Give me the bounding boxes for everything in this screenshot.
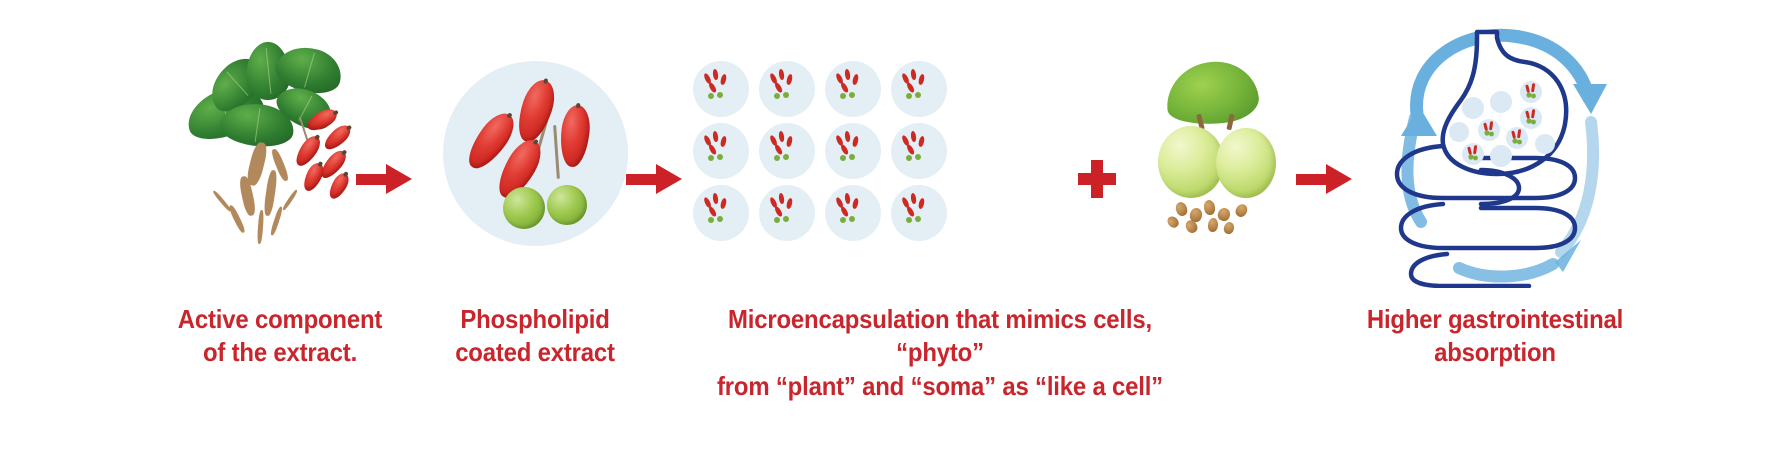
plant-root-hair [282, 189, 299, 211]
microcapsule [891, 185, 947, 241]
barberry-plant-illustration [180, 38, 380, 268]
caption-gi-absorption: Higher gastrointestinal absorption [1343, 303, 1647, 370]
microcapsule [693, 61, 749, 117]
grape-illustration [1128, 56, 1293, 251]
microcapsule [891, 123, 947, 179]
microcapsule [825, 61, 881, 117]
arrow-right-1 [356, 164, 412, 194]
grape-leaf [1163, 57, 1261, 128]
caption-active-component: Active component of the extract. [160, 303, 399, 370]
caption-microencapsulation: Microencapsulation that mimics cells, “p… [682, 303, 1197, 403]
microcapsule [825, 185, 881, 241]
green-berry [503, 187, 545, 229]
microcapsule [891, 61, 947, 117]
step-gi-absorption-visual [1380, 18, 1640, 288]
arrow-right-2 [626, 164, 682, 194]
microcapsule [759, 123, 815, 179]
infographic-root: Active component of the extract. Phospho… [0, 0, 1792, 466]
grape-berry [1158, 126, 1224, 198]
grape-seed [1222, 220, 1235, 234]
grape-seed [1203, 199, 1216, 215]
step-grape-visual [1120, 18, 1300, 288]
step-microencapsulation-visual [690, 18, 955, 288]
step-active-component-visual [170, 18, 390, 288]
phospholipid-circle [443, 61, 628, 246]
microcapsule [825, 123, 881, 179]
grape-seed [1216, 206, 1232, 223]
microcapsule [759, 61, 815, 117]
grape-seed [1165, 214, 1181, 230]
caption-phospholipid: Phospholipid coated extract [429, 303, 641, 370]
red-berry [511, 75, 559, 145]
grape-berry [1216, 128, 1276, 198]
plant-root [263, 170, 278, 217]
microcapsule [693, 123, 749, 179]
microcapsule [693, 185, 749, 241]
plus-sign [1078, 160, 1116, 198]
step-phospholipid-visual [430, 18, 640, 288]
grape-seed [1207, 217, 1218, 232]
arrow-right-3 [1296, 164, 1352, 194]
microcapsule [759, 185, 815, 241]
berry-stem [553, 124, 560, 178]
red-berry [557, 103, 591, 168]
grape-seed [1233, 202, 1249, 219]
microcapsule-grid [693, 61, 953, 245]
green-berry [547, 185, 587, 225]
plant-root-hair [212, 190, 232, 212]
gastrointestinal-diagram [1385, 18, 1635, 288]
grape-seed [1174, 200, 1189, 217]
plant-root-hair [257, 210, 264, 244]
